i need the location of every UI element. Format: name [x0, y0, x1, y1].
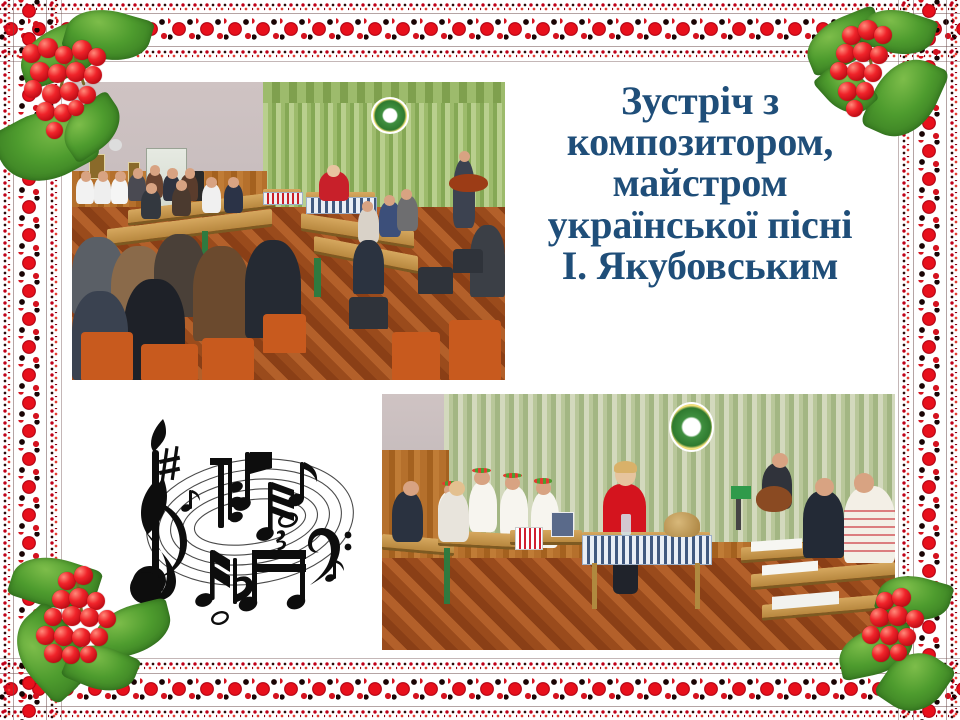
photo-presentation-closeup: [382, 394, 895, 650]
title-line-2: композитором,: [498, 121, 902, 162]
music-notes-treble-clef-clipart: [100, 410, 365, 635]
title-line-1: Зустріч з: [498, 80, 902, 121]
title-line-3: майстром: [498, 162, 902, 203]
title-line-5: І. Якубовським: [498, 245, 902, 286]
slide-title: Зустріч з композитором, майстром українс…: [498, 80, 902, 286]
photo-assembly-hall-wide: [72, 82, 505, 380]
presentation-slide: Зустріч з композитором, майстром українс…: [0, 0, 960, 720]
title-line-4: української пісні: [498, 204, 902, 245]
